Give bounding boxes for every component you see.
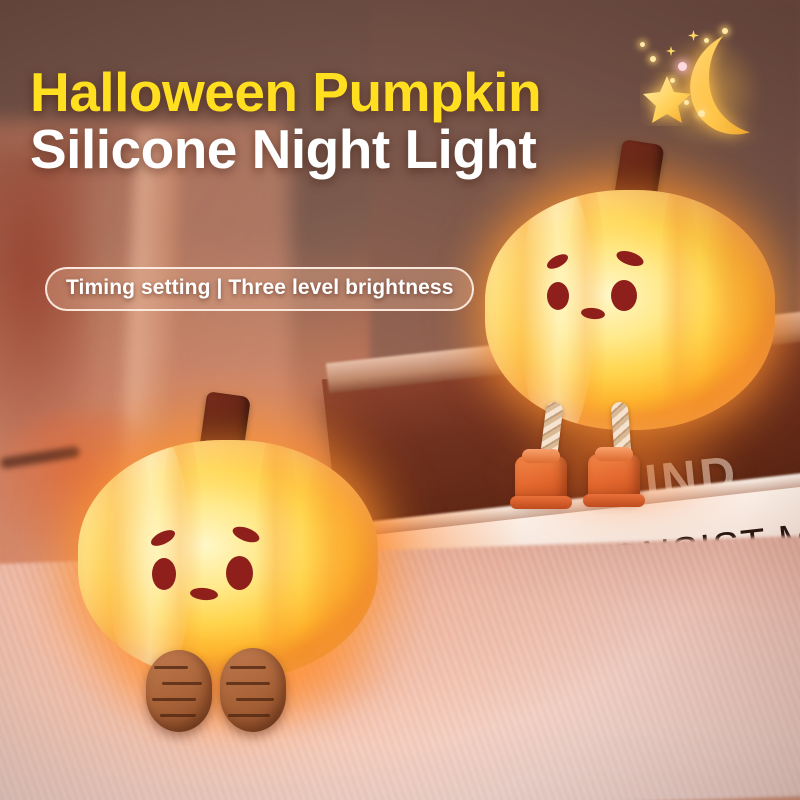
sparkle-icon [670,78,675,83]
sparkle-icon [722,28,728,34]
star-icon [640,72,694,126]
product-banner: LIND ORALITYCONSIST MA [0,0,800,800]
headline-line-2: Silicone Night Light [30,121,541,178]
sparkle-icon [640,42,645,47]
moon-decoration [626,24,786,154]
sparkle-icon [704,38,709,43]
page-title: Halloween Pumpkin Silicone Night Light [30,64,541,178]
feature-badge: Timing setting | Three level brightness [45,267,474,311]
sparkle-icon [678,62,687,71]
sparkle-icon [684,100,689,105]
sparkle-icon [650,56,656,62]
sparkle-icon [698,110,705,117]
headline-line-1: Halloween Pumpkin [30,64,541,121]
